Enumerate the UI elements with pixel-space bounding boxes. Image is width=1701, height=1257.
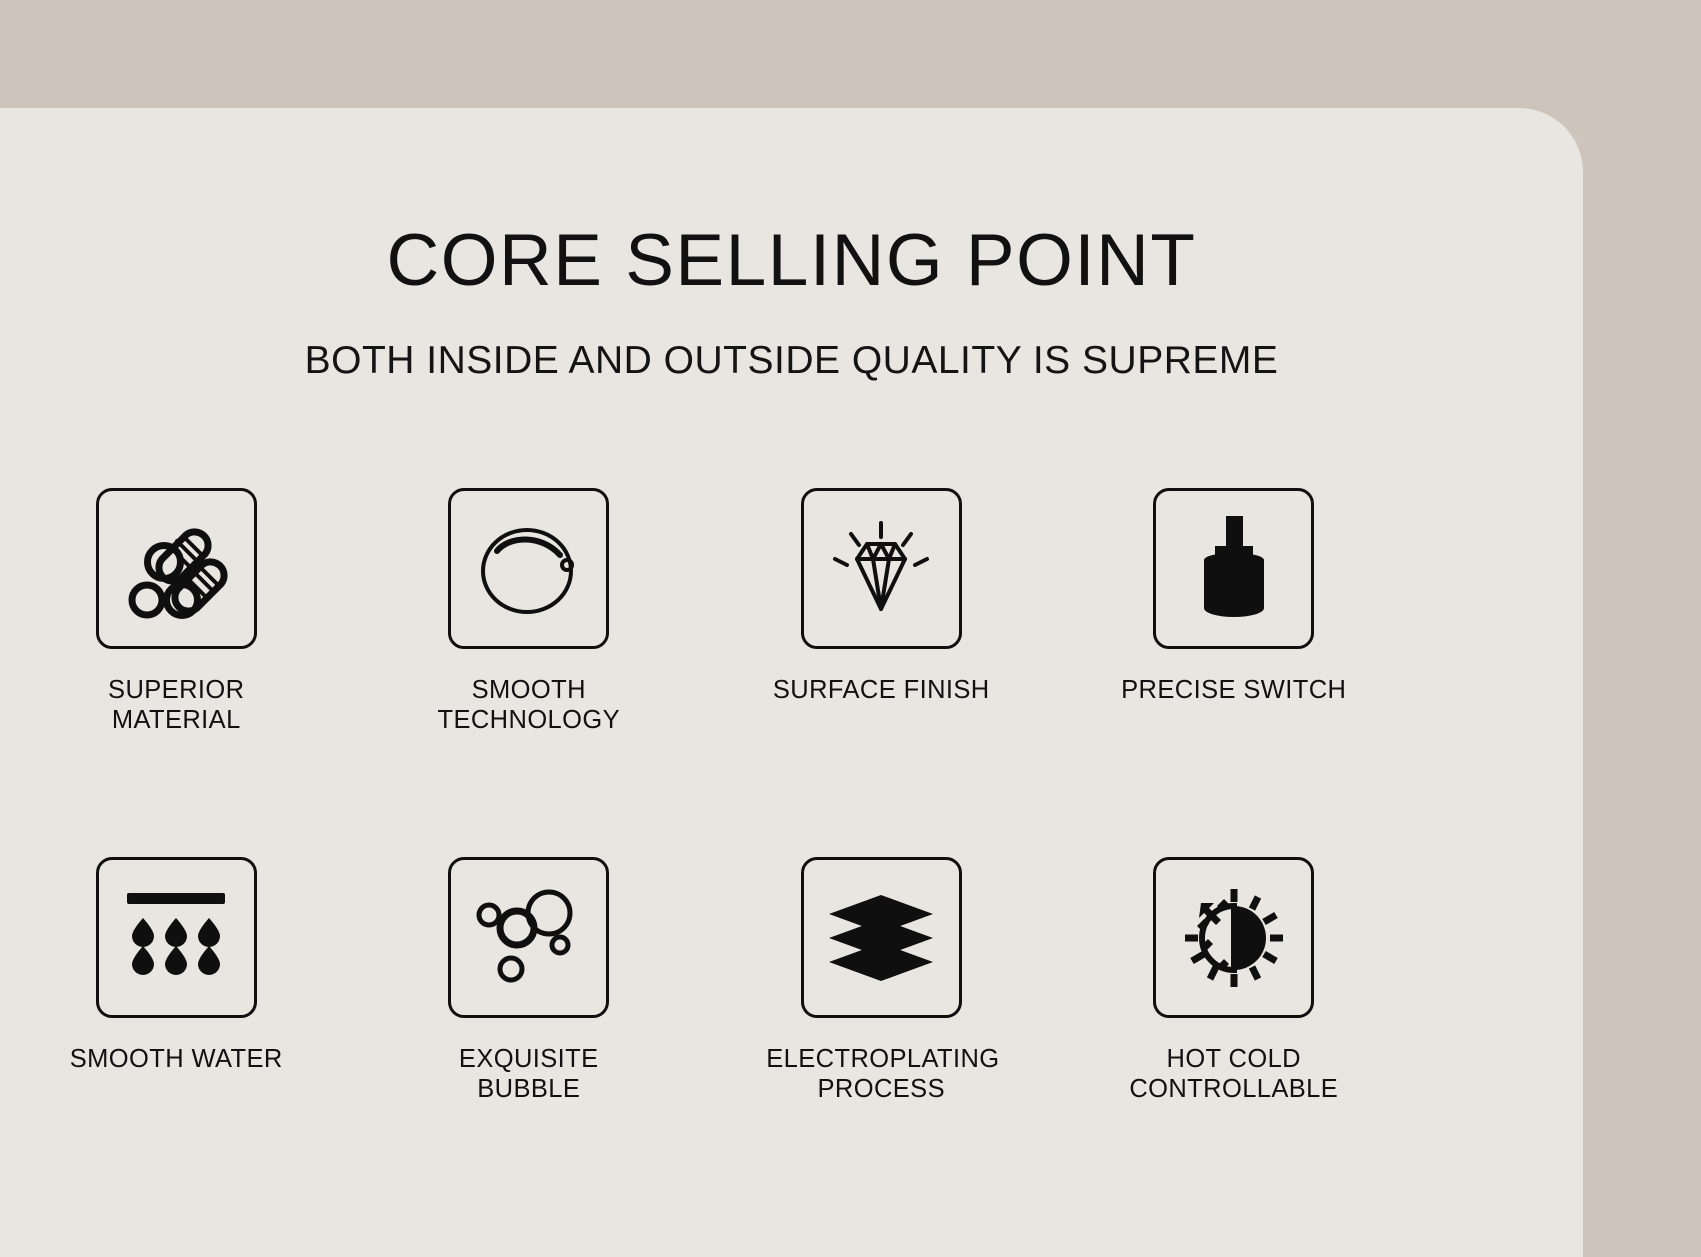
- icon-frame: [1153, 857, 1314, 1018]
- feature-item[interactable]: SMOOTH WATER: [0, 857, 353, 1104]
- feature-label: PRECISE SWITCH: [1121, 675, 1346, 705]
- page-subtitle: BOTH INSIDE AND OUTSIDE QUALITY IS SUPRE…: [0, 341, 1583, 380]
- feature-grid: SUPERIOR MATERIAL SMOOT: [0, 488, 1410, 1104]
- feature-label: SMOOTH WATER: [70, 1044, 283, 1074]
- feature-item[interactable]: SMOOTH TECHNOLOGY: [353, 488, 706, 735]
- feature-label: ELECTROPLATING PROCESS: [766, 1044, 996, 1104]
- content-card: CORE SELLING POINT BOTH INSIDE AND OUTSI…: [0, 108, 1583, 1257]
- poster-header: CORE SELLING POINT BOTH INSIDE AND OUTSI…: [0, 108, 1583, 380]
- valve-cartridge-icon: [1196, 516, 1272, 622]
- icon-frame: [801, 857, 962, 1018]
- icon-frame: [96, 857, 257, 1018]
- stacked-brass-bars-icon: [124, 517, 228, 621]
- feature-label: HOT COLD CONTROLLABLE: [1129, 1044, 1338, 1104]
- icon-frame: [448, 857, 609, 1018]
- smooth-surface-droplet-icon: [475, 518, 583, 620]
- feature-item[interactable]: SUPERIOR MATERIAL: [0, 488, 353, 735]
- feature-item[interactable]: PRECISE SWITCH: [1058, 488, 1411, 735]
- icon-frame: [801, 488, 962, 649]
- feature-label: EXQUISITE BUBBLE: [414, 1044, 644, 1104]
- feature-label: SUPERIOR MATERIAL: [61, 675, 291, 735]
- feature-item[interactable]: ELECTROPLATING PROCESS: [705, 857, 1058, 1104]
- feature-item[interactable]: SURFACE FINISH: [705, 488, 1058, 735]
- icon-frame: [96, 488, 257, 649]
- feature-label: SURFACE FINISH: [773, 675, 990, 705]
- icon-frame: [1153, 488, 1314, 649]
- stacked-layers-icon: [827, 895, 935, 981]
- bubbles-icon: [476, 885, 582, 991]
- poster-background: CORE SELLING POINT BOTH INSIDE AND OUTSI…: [0, 0, 1701, 1257]
- shining-diamond-icon: [827, 515, 935, 623]
- page-title: CORE SELLING POINT: [0, 224, 1583, 297]
- feature-item[interactable]: HOT COLD CONTROLLABLE: [1058, 857, 1411, 1104]
- feature-label: SMOOTH TECHNOLOGY: [437, 675, 620, 735]
- sun-snowflake-hot-cold-icon: [1181, 885, 1287, 991]
- shower-water-drops-icon: [123, 885, 229, 991]
- icon-frame: [448, 488, 609, 649]
- feature-item[interactable]: EXQUISITE BUBBLE: [353, 857, 706, 1104]
